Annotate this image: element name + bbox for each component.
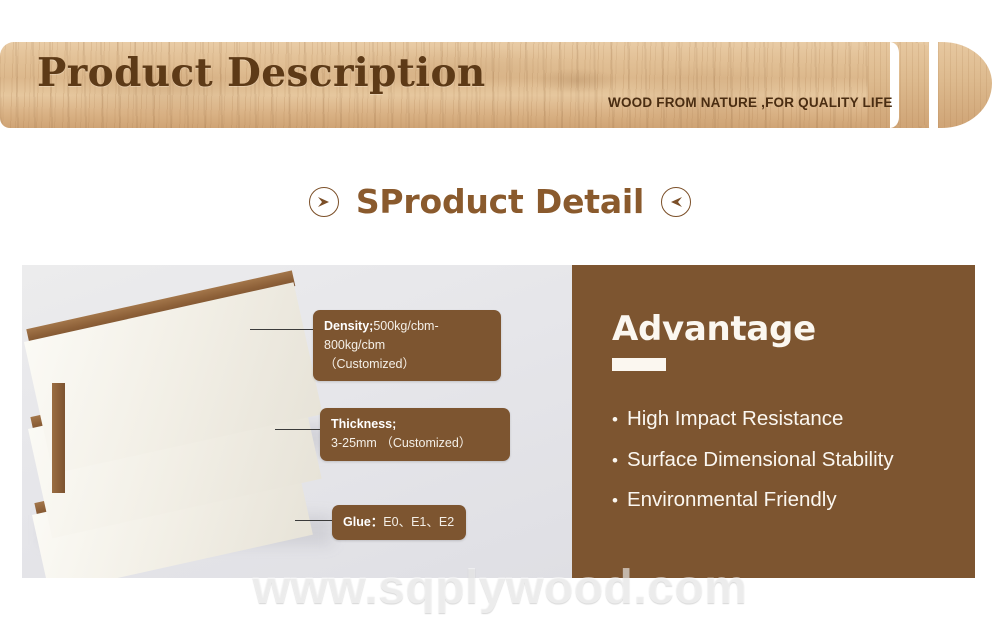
page-title: Product Description xyxy=(37,50,486,96)
advantage-underline xyxy=(612,358,666,371)
section-heading: SProduct Detail xyxy=(0,182,1000,221)
callout-label: Thickness; xyxy=(331,417,396,431)
section-title-text: SProduct Detail xyxy=(356,182,644,221)
advantage-list: • High Impact Resistance • Surface Dimen… xyxy=(612,409,975,511)
header-tagline: WOOD FROM NATURE ,FOR QUALITY LIFE xyxy=(608,95,893,110)
advantage-item-text: Environmental Friendly xyxy=(627,490,837,511)
advantage-title: Advantage xyxy=(612,309,975,349)
callout-density: Density;500kg/cbm-800kg/cbm （Customized） xyxy=(313,310,501,381)
callout-glue: Glue：E0、E1、E2 xyxy=(332,505,466,540)
list-item: • High Impact Resistance xyxy=(612,409,975,430)
plank-gap-2 xyxy=(929,42,938,128)
circled-arrow-right-icon xyxy=(309,187,339,217)
bullet-icon: • xyxy=(612,452,618,469)
plank-gap-1 xyxy=(890,42,899,128)
callout-label: Glue： xyxy=(343,515,383,529)
board-1-side-edge xyxy=(52,383,65,493)
bullet-icon: • xyxy=(612,492,618,509)
plank-curve-3 xyxy=(938,42,992,128)
list-item: • Surface Dimensional Stability xyxy=(612,450,975,471)
advantage-item-text: Surface Dimensional Stability xyxy=(627,450,894,471)
advantage-item-text: High Impact Resistance xyxy=(627,409,843,430)
circled-arrow-left-icon xyxy=(661,187,691,217)
leader-line-glue xyxy=(295,520,335,521)
bullet-icon: • xyxy=(612,411,618,428)
callout-label: Density; xyxy=(324,319,373,333)
callout-note: （Customized） xyxy=(324,355,490,374)
list-item: • Environmental Friendly xyxy=(612,490,975,511)
callout-note: 3-25mm （Customized） xyxy=(331,434,499,453)
callout-thickness: Thickness; 3-25mm （Customized） xyxy=(320,408,510,461)
callout-value: E0、E1、E2 xyxy=(383,515,454,529)
advantage-panel: Advantage • High Impact Resistance • Sur… xyxy=(572,265,975,578)
page-header: Product Description WOOD FROM NATURE ,FO… xyxy=(0,42,1000,128)
